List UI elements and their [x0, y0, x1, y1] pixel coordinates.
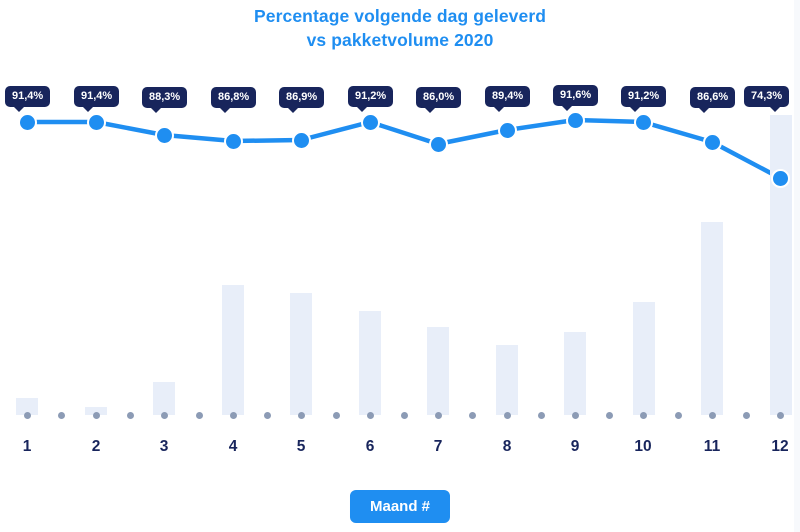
- data-point-label: 91,6%: [553, 85, 598, 106]
- volume-bar: [770, 115, 792, 415]
- data-point-marker[interactable]: [155, 126, 174, 145]
- data-point-marker[interactable]: [498, 121, 517, 140]
- axis-dot: [196, 412, 203, 419]
- chart-title-line-2: vs pakketvolume 2020: [0, 28, 800, 52]
- x-axis-tick-label: 2: [92, 438, 101, 456]
- axis-dot: [572, 412, 579, 419]
- x-axis-tick-label: 12: [771, 438, 788, 456]
- data-point-marker[interactable]: [703, 133, 722, 152]
- axis-dot: [606, 412, 613, 419]
- data-point-label: 86,6%: [690, 87, 735, 108]
- x-axis-tick-label: 11: [704, 438, 720, 456]
- x-axis-tick-label: 4: [229, 438, 238, 456]
- data-point-marker[interactable]: [566, 111, 585, 130]
- volume-bar: [290, 293, 312, 415]
- axis-dot: [93, 412, 100, 419]
- axis-dot: [640, 412, 647, 419]
- trend-line: [0, 60, 800, 435]
- axis-dot: [504, 412, 511, 419]
- data-point-marker[interactable]: [634, 113, 653, 132]
- axis-dot: [127, 412, 134, 419]
- chart-title: Percentage volgende dag geleverd vs pakk…: [0, 4, 800, 52]
- volume-bar: [222, 285, 244, 415]
- data-point-label: 91,4%: [5, 86, 50, 107]
- data-point-label: 89,4%: [485, 86, 530, 107]
- volume-bar: [153, 382, 175, 415]
- data-point-marker[interactable]: [87, 113, 106, 132]
- volume-bar: [427, 327, 449, 415]
- chart-container: Percentage volgende dag geleverd vs pakk…: [0, 0, 800, 532]
- axis-dot: [298, 412, 305, 419]
- data-point-label: 86,0%: [416, 87, 461, 108]
- x-axis-tick-label: 9: [571, 438, 580, 456]
- volume-bar: [564, 332, 586, 415]
- data-point-label: 88,3%: [142, 87, 187, 108]
- volume-bar: [359, 311, 381, 415]
- right-edge-sliver: [794, 0, 800, 532]
- data-point-label: 74,3%: [744, 86, 789, 107]
- data-point-marker[interactable]: [224, 132, 243, 151]
- data-point-label: 91,2%: [621, 86, 666, 107]
- axis-dot: [333, 412, 340, 419]
- volume-bar: [701, 222, 723, 415]
- volume-bar: [633, 302, 655, 415]
- data-point-marker[interactable]: [771, 169, 790, 188]
- axis-dot: [58, 412, 65, 419]
- axis-dot: [264, 412, 271, 419]
- data-point-marker[interactable]: [361, 113, 380, 132]
- trend-line-path: [27, 120, 780, 178]
- x-axis-tick-labels: 123456789101112: [0, 438, 800, 478]
- data-point-marker[interactable]: [429, 135, 448, 154]
- axis-dot: [709, 412, 716, 419]
- plot-area: 91,4%91,4%88,3%86,8%86,9%91,2%86,0%89,4%…: [0, 60, 800, 435]
- x-axis-tick-label: 8: [503, 438, 512, 456]
- data-point-label: 91,2%: [348, 86, 393, 107]
- x-axis-tick-label: 3: [160, 438, 169, 456]
- x-axis-tick-label: 1: [23, 438, 32, 456]
- chart-title-line-1: Percentage volgende dag geleverd: [0, 4, 800, 28]
- x-axis-tick-label: 6: [366, 438, 375, 456]
- axis-dot: [367, 412, 374, 419]
- volume-bar: [496, 345, 518, 415]
- axis-dot: [743, 412, 750, 419]
- data-point-marker[interactable]: [18, 113, 37, 132]
- x-axis-tick-label: 7: [434, 438, 443, 456]
- x-axis-title-pill: Maand #: [350, 490, 450, 523]
- axis-dot: [675, 412, 682, 419]
- x-axis-tick-label: 10: [634, 438, 651, 456]
- axis-dot: [161, 412, 168, 419]
- axis-dot: [24, 412, 31, 419]
- axis-dot: [401, 412, 408, 419]
- data-point-label: 86,8%: [211, 87, 256, 108]
- x-axis-tick-label: 5: [297, 438, 306, 456]
- axis-dot: [777, 412, 784, 419]
- axis-dot: [230, 412, 237, 419]
- axis-dot: [538, 412, 545, 419]
- axis-dot: [469, 412, 476, 419]
- axis-dot: [435, 412, 442, 419]
- data-point-marker[interactable]: [292, 131, 311, 150]
- data-point-label: 86,9%: [279, 87, 324, 108]
- data-point-label: 91,4%: [74, 86, 119, 107]
